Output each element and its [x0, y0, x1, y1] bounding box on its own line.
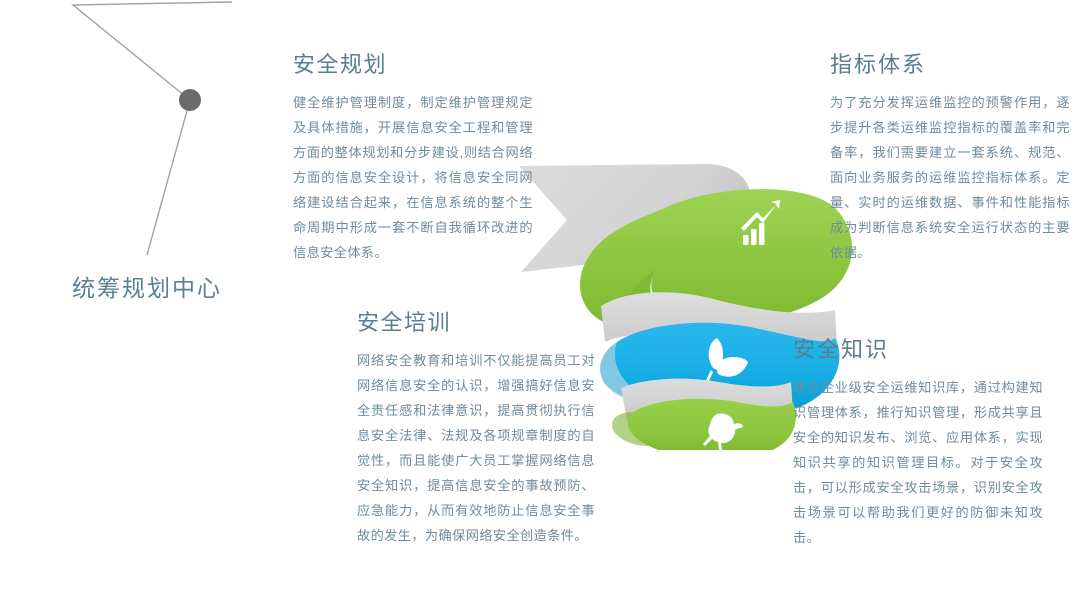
infographic-canvas: 统筹规划中心 — [0, 0, 1080, 608]
heading-security-planning: 安全规划 — [293, 52, 533, 78]
body-metric-system: 为了充分发挥运维监控的预警作用，逐步提升各类运维监控指标的覆盖率和完备率，我们需… — [830, 90, 1070, 265]
body-security-planning: 健全维护管理制度，制定维护管理规定及具体措施，开展信息安全工程和管理方面的整体规… — [293, 90, 533, 265]
text-block-security-knowledge: 安全知识 建立企业级安全运维知识库，通过构建知识管理体系，推行知识管理，形成共享… — [793, 337, 1043, 550]
center-label: 统筹规划中心 — [72, 269, 222, 303]
heading-security-training: 安全培训 — [357, 310, 595, 336]
text-block-metric-system: 指标体系 为了充分发挥运维监控的预警作用，逐步提升各类运维监控指标的覆盖率和完备… — [830, 52, 1070, 265]
text-block-security-planning: 安全规划 健全维护管理制度，制定维护管理规定及具体措施，开展信息安全工程和管理方… — [293, 52, 533, 265]
heading-metric-system: 指标体系 — [830, 52, 1070, 78]
body-security-knowledge: 建立企业级安全运维知识库，通过构建知识管理体系，推行知识管理，形成共享且安全的知… — [793, 375, 1043, 550]
connector-polyline — [73, 2, 232, 255]
center-node-dot[interactable] — [179, 89, 201, 111]
text-block-security-training: 安全培训 网络安全教育和培训不仅能提高员工对网络信息安全的认识，增强搞好信息安全… — [357, 310, 595, 548]
heading-security-knowledge: 安全知识 — [793, 337, 1043, 363]
body-security-training: 网络安全教育和培训不仅能提高员工对网络信息安全的认识，增强搞好信息安全责任感和法… — [357, 348, 595, 548]
